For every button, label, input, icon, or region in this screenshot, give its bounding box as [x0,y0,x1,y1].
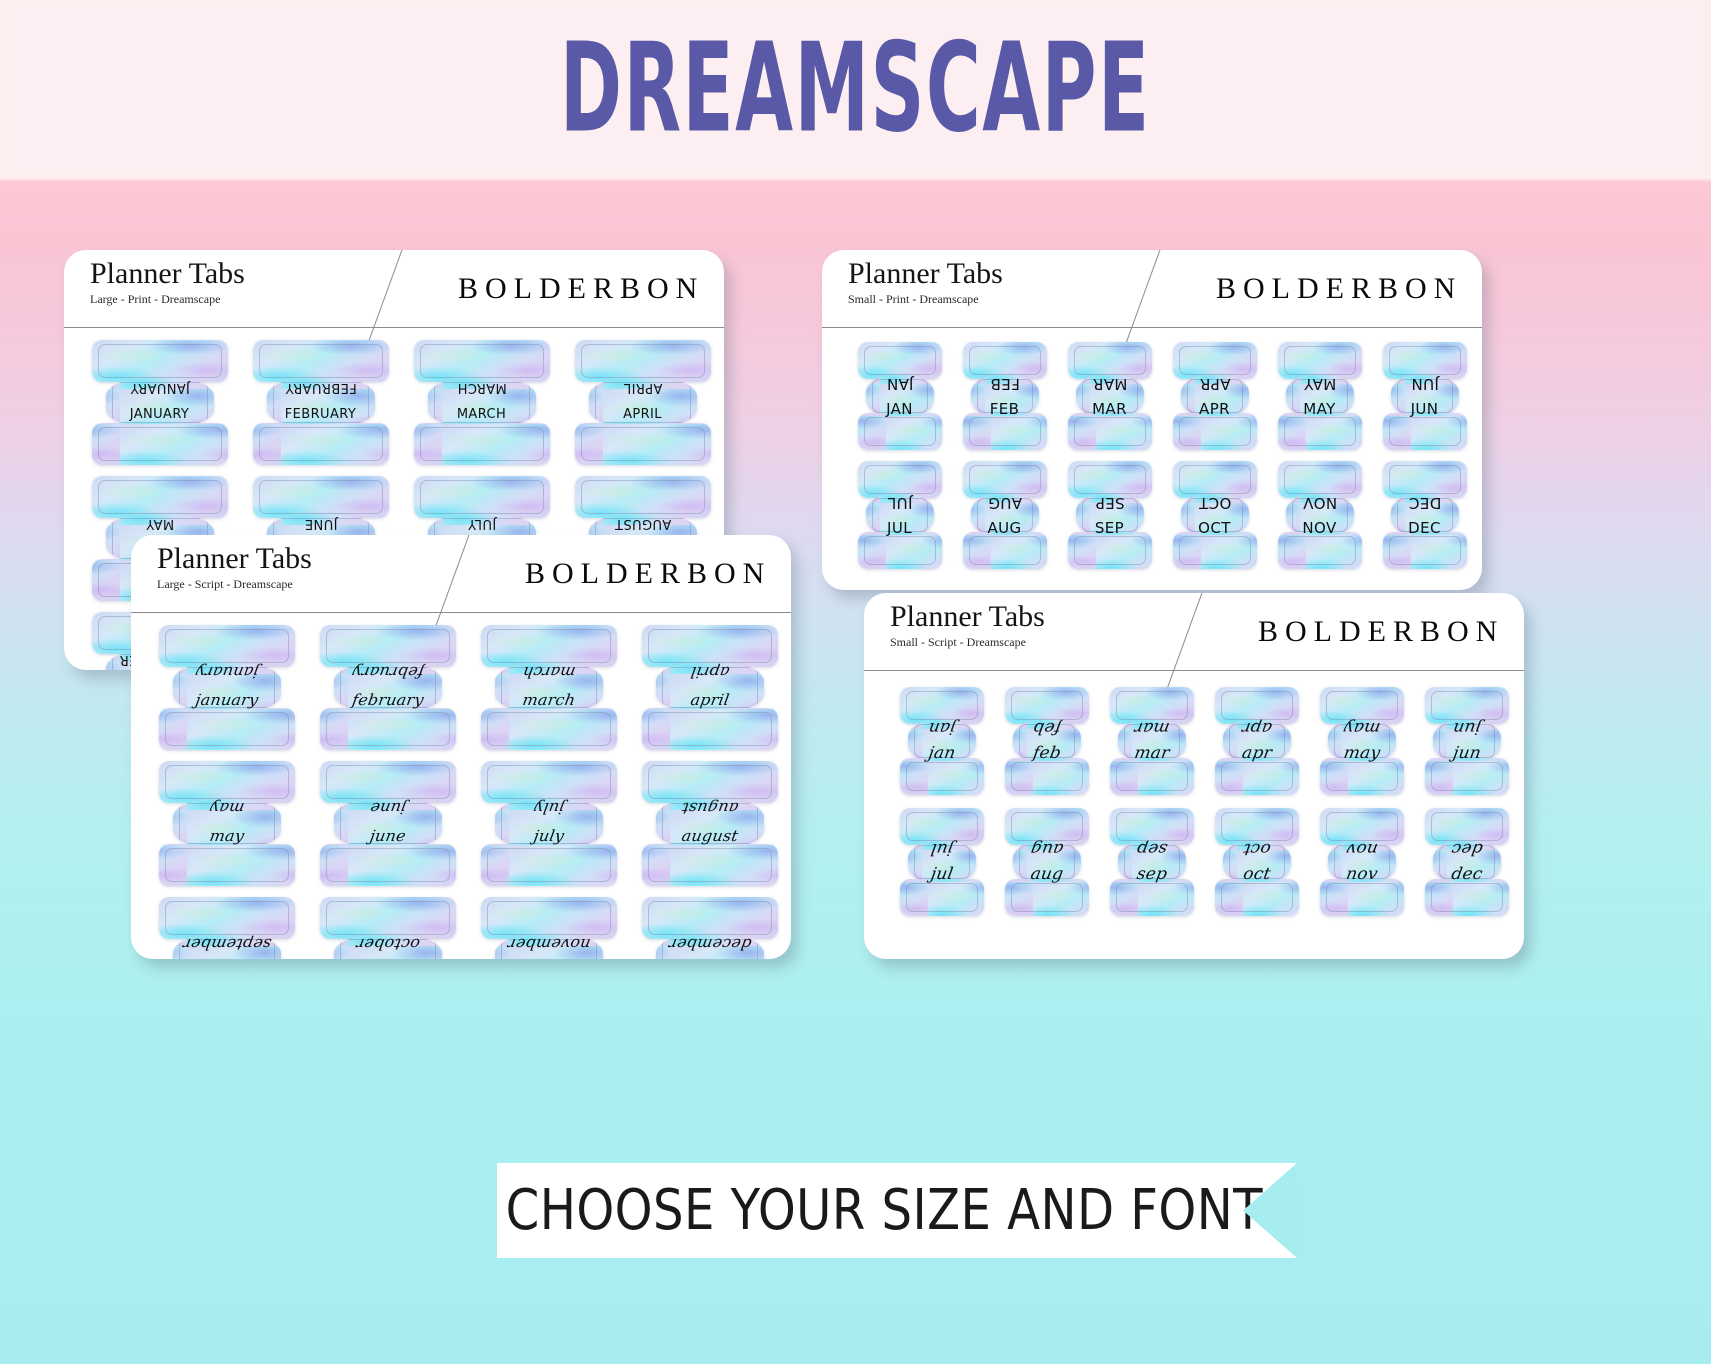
tab-shape-segment [159,897,295,939]
tab-label: FEBRUARY [251,407,391,422]
tab-label: JANUARY [90,407,230,422]
tab-cut-line [1389,536,1461,565]
tab-label-mirrored: JUNE [251,516,391,531]
sticker-sheet-small-print[interactable]: Planner Tabs Small - Print - Dreamscape … [822,250,1482,590]
tab-cut-line [1326,883,1398,912]
tab-shape-segment [642,897,778,939]
tab-shape-segment [1005,879,1089,916]
planner-tab-sticker[interactable]: julyjuly [479,761,619,886]
tab-label-mirrored: feb [1001,718,1092,737]
tab-shape-segment [963,532,1047,569]
planner-tab-sticker[interactable]: augaug [1003,808,1091,916]
sheet-header: Planner Tabs Large - Print - Dreamscape … [64,250,724,328]
planner-tab-sticker[interactable]: junejune [318,761,458,886]
tab-label: JUN [1381,400,1469,418]
sheet-subtitle: Large - Script - Dreamscape [157,577,312,592]
planner-tab-sticker[interactable]: januaryjanuary [157,625,297,750]
tab-label-mirrored: MAR [1066,375,1154,393]
tab-shape-segment [481,708,617,750]
planner-tab-sticker[interactable]: februaryfebruary [318,625,458,750]
tab-cut-line [420,344,544,378]
tab-cut-line [906,883,978,912]
tab-label-mirrored: APRIL [573,380,713,395]
tab-shape-segment [1068,461,1152,498]
tab-label: jan [896,743,987,762]
tab-cut-line [487,765,611,799]
tab-cut-line [1431,883,1503,912]
planner-tab-sticker[interactable]: decemberdecember [640,897,780,959]
tab-shape-segment [963,461,1047,498]
sheet-title: Planner Tabs [890,601,1045,633]
tab-shape-segment [414,423,550,465]
tab-label-mirrored: MARCH [412,380,552,395]
tab-label-mirrored: may [155,799,298,817]
sticker-sheet-large-script[interactable]: Planner Tabs Large - Script - Dreamscape… [131,535,791,959]
tab-shape-segment [159,625,295,667]
tab-shape-segment [1425,758,1509,795]
tab-label-mirrored: FEB [961,375,1049,393]
tab-label: FEB [961,400,1049,418]
tab-cut-line [1221,812,1293,841]
tab-shape-segment [1110,758,1194,795]
tab-shape-segment [1173,413,1257,450]
tab-cut-line [1431,691,1503,720]
tab-label-mirrored: AUG [961,494,1049,512]
tab-shape-segment [159,844,295,886]
sheet-title: Planner Tabs [848,258,1003,290]
tab-cut-line [1284,346,1356,375]
tab-label-mirrored: january [155,663,298,681]
tab-label-mirrored: july [477,799,620,817]
planner-tab-sticker[interactable]: febfeb [1003,687,1091,795]
tab-cut-line [1389,346,1461,375]
tab-shape-segment [1215,758,1299,795]
footer-ribbon: CHOOSE YOUR SIZE AND FONT [497,1163,1297,1258]
tab-shape-segment [481,761,617,803]
tab-shape-segment [900,758,984,795]
tab-cut-line [1074,417,1146,446]
tab-label-mirrored: JAN [856,375,944,393]
planner-tab-sticker[interactable]: septemberseptember [157,897,297,959]
tab-grid-small-print: JANJANFEBFEBMARMARAPRAPRMAYMAYJUNJUNJULJ… [822,328,1482,569]
tab-shape-segment [858,413,942,450]
tab-label: january [155,690,298,708]
tab-label: SEP [1066,519,1154,537]
tab-shape-segment [320,897,456,939]
tab-shape-segment [1383,532,1467,569]
tab-label-mirrored: mar [1106,718,1197,737]
tab-shape-segment [1068,532,1152,569]
sheet-header: Planner Tabs Large - Script - Dreamscape… [131,535,791,613]
tab-shape-segment [414,340,550,382]
tab-label-mirrored: jan [896,718,987,737]
tab-label: OCT [1171,519,1259,537]
tab-shape-segment [900,879,984,916]
planner-tab-sticker[interactable]: JANUARYJANUARY [90,340,230,465]
tab-shape-segment [1278,342,1362,379]
tab-shape-segment [1278,461,1362,498]
tab-label-mirrored: JANUARY [90,380,230,395]
tab-shape-segment [1005,758,1089,795]
tab-label-mirrored: dec [1421,839,1512,858]
tab-cut-line [326,765,450,799]
tab-label-mirrored: SEP [1066,494,1154,512]
tab-label-mirrored: september [155,935,298,953]
tab-cut-line [648,712,772,746]
tab-label-mirrored: apr [1211,718,1302,737]
tab-shape-segment [963,342,1047,379]
tab-cut-line [1074,465,1146,494]
planner-tab-sticker[interactable]: juljul [898,808,986,916]
tab-label-mirrored: february [316,663,459,681]
tab-cut-line [98,480,222,514]
planner-tab-sticker[interactable]: novnov [1318,808,1406,916]
tab-cut-line [487,901,611,935]
tab-label: MAR [1066,400,1154,418]
tab-cut-line [487,629,611,663]
tab-cut-line [165,712,289,746]
tab-shape-segment [320,761,456,803]
tab-cut-line [648,629,772,663]
tab-label-mirrored: may [1316,718,1407,737]
tab-shape-segment [575,423,711,465]
tab-cut-line [969,346,1041,375]
tab-shape-segment [92,340,228,382]
tab-label: MAY [1276,400,1364,418]
tab-shape-segment [1278,413,1362,450]
tab-label-mirrored: jun [1421,718,1512,737]
tab-shape-segment [320,625,456,667]
tab-label: february [316,690,459,708]
tab-label-mirrored: NOV [1276,494,1364,512]
tab-shape-segment [159,761,295,803]
tab-cut-line [326,901,450,935]
tab-cut-line [259,480,383,514]
tab-cut-line [326,712,450,746]
tab-cut-line [1284,536,1356,565]
tab-cut-line [581,427,705,461]
tab-shape-segment [320,844,456,886]
tab-label-mirrored: august [638,799,781,817]
tab-cut-line [1326,762,1398,791]
tab-cut-line [1011,762,1083,791]
planner-tab-sticker[interactable]: JUNJUN [1381,342,1469,450]
tab-grid-small-script: janjanfebfebmarmarapraprmaymayjunjunjulj… [864,671,1524,916]
brand-logo: BOLDERBON [458,272,704,306]
planner-tab-sticker[interactable]: octoct [1213,808,1301,916]
tab-cut-line [1284,465,1356,494]
tab-cut-line [1011,691,1083,720]
tab-label-mirrored: november [477,935,620,953]
tab-cut-line [1221,691,1293,720]
tab-shape-segment [1173,461,1257,498]
tab-cut-line [98,344,222,378]
tab-cut-line [906,762,978,791]
tab-label: jul [896,864,987,883]
tab-shape-segment [642,625,778,667]
tab-cut-line [648,848,772,882]
tab-cut-line [165,901,289,935]
planner-tab-sticker[interactable]: APRILAPRIL [573,340,713,465]
planner-tab-sticker[interactable]: octoberoctober [318,897,458,959]
tab-label-mirrored: AUGUST [573,516,713,531]
tab-shape-segment [858,461,942,498]
tab-shape-segment [481,897,617,939]
brand-logo: BOLDERBON [1216,272,1462,306]
tab-shape-segment [1110,879,1194,916]
tab-label: JAN [856,400,944,418]
tab-shape-segment [1425,879,1509,916]
tab-cut-line [1326,812,1398,841]
brand-logo: BOLDERBON [1258,615,1504,649]
tab-shape-segment [481,625,617,667]
tab-label: march [477,690,620,708]
tab-shape-segment [1173,342,1257,379]
tab-cut-line [1116,762,1188,791]
tab-cut-line [1011,812,1083,841]
tab-cut-line [648,765,772,799]
tab-label: feb [1001,743,1092,762]
tab-cut-line [165,765,289,799]
tab-shape-segment [642,844,778,886]
tab-cut-line [1074,536,1146,565]
tab-cut-line [864,417,936,446]
footer-text: CHOOSE YOUR SIZE AND FONT [505,1178,1262,1243]
tab-shape-segment [1215,879,1299,916]
tab-cut-line [969,465,1041,494]
tab-cut-line [259,344,383,378]
tab-cut-line [420,427,544,461]
tab-shape-segment [1320,879,1404,916]
tab-label: MARCH [412,407,552,422]
tab-cut-line [581,480,705,514]
tab-cut-line [1326,691,1398,720]
sheet-header: Planner Tabs Small - Script - Dreamscape… [864,593,1524,671]
tab-label-mirrored: october [316,935,459,953]
tab-cut-line [1179,465,1251,494]
tab-label-mirrored: jul [896,839,987,858]
planner-tab-sticker[interactable]: OCTOCT [1171,461,1259,569]
tab-shape-segment [1173,532,1257,569]
tab-shape-segment [1320,758,1404,795]
tab-cut-line [648,901,772,935]
planner-tab-sticker[interactable]: MAYMAY [1276,342,1364,450]
tab-shape-segment [575,476,711,518]
tab-label: mar [1106,743,1197,762]
tab-label-mirrored: JUL [856,494,944,512]
tab-cut-line [326,629,450,663]
tab-cut-line [1389,417,1461,446]
product-listing-image: DREAMSCAPE Planner Tabs Large - Print - … [0,0,1711,1364]
tab-shape-segment [253,476,389,518]
sheet-subtitle: Small - Script - Dreamscape [890,635,1045,650]
tab-label: apr [1211,743,1302,762]
planner-tab-sticker[interactable]: maymay [1318,687,1406,795]
planner-tab-sticker[interactable]: marmar [1108,687,1196,795]
tab-cut-line [1431,762,1503,791]
tab-label: may [1316,743,1407,762]
tab-label-mirrored: march [477,663,620,681]
tab-shape-segment [92,476,228,518]
tab-label-mirrored: aug [1001,839,1092,858]
tab-cut-line [98,427,222,461]
page-title: DREAMSCAPE [560,27,1151,150]
tab-cut-line [487,712,611,746]
planner-tab-sticker[interactable]: JULJUL [856,461,944,569]
planner-tab-sticker[interactable]: NOVNOV [1276,461,1364,569]
tab-shape-segment [1068,342,1152,379]
tab-shape-segment [159,708,295,750]
tab-shape-segment [963,413,1047,450]
tab-shape-segment [642,708,778,750]
planner-tab-sticker[interactable]: APRAPR [1171,342,1259,450]
tab-label: AUG [961,519,1049,537]
planner-tab-sticker[interactable]: AUGAUG [961,461,1049,569]
tab-label: may [155,826,298,844]
planner-tab-sticker[interactable]: SEPSEP [1066,461,1154,569]
tab-shape-segment [858,532,942,569]
planner-tab-sticker[interactable]: novembernovember [479,897,619,959]
tab-cut-line [969,417,1041,446]
tab-cut-line [581,344,705,378]
tab-label-mirrored: JUN [1381,375,1469,393]
tab-label-mirrored: OCT [1171,494,1259,512]
tab-shape-segment [414,476,550,518]
tab-cut-line [906,691,978,720]
planner-tab-sticker[interactable]: sepsep [1108,808,1196,916]
tab-cut-line [1116,691,1188,720]
tab-label-mirrored: nov [1316,839,1407,858]
tab-label: nov [1316,864,1407,883]
planner-tab-sticker[interactable]: aprilapril [640,625,780,750]
tab-label-mirrored: APR [1171,375,1259,393]
tab-label: aug [1001,864,1092,883]
tab-cut-line [969,536,1041,565]
tab-cut-line [326,848,450,882]
tab-label: dec [1421,864,1512,883]
tab-shape-segment [858,342,942,379]
planner-tab-sticker[interactable]: MARMAR [1066,342,1154,450]
tab-cut-line [864,346,936,375]
tab-cut-line [1389,465,1461,494]
tab-shape-segment [481,844,617,886]
planner-tab-sticker[interactable]: aprapr [1213,687,1301,795]
tab-label: APR [1171,400,1259,418]
planner-tab-sticker[interactable]: MARCHMARCH [412,340,552,465]
planner-tab-sticker[interactable]: FEBRUARYFEBRUARY [251,340,391,465]
tab-cut-line [1284,417,1356,446]
tab-cut-line [906,812,978,841]
tab-shape-segment [1068,413,1152,450]
planner-tab-sticker[interactable]: DECDEC [1381,461,1469,569]
tab-cut-line [1179,346,1251,375]
tab-label: july [477,826,620,844]
tab-cut-line [420,480,544,514]
tab-label-mirrored: oct [1211,839,1302,858]
tab-shape-segment [1278,532,1362,569]
tab-cut-line [1221,762,1293,791]
tab-label: NOV [1276,519,1364,537]
tab-shape-segment [92,423,228,465]
tab-cut-line [864,465,936,494]
tab-cut-line [1116,812,1188,841]
tab-cut-line [1116,883,1188,912]
tab-cut-line [1074,346,1146,375]
tab-shape-segment [253,423,389,465]
tab-grid-large-script: januaryjanuaryfebruaryfebruarymarchmarch… [131,613,791,959]
planner-tab-sticker[interactable]: JANJAN [856,342,944,450]
tab-label: june [316,826,459,844]
sheet-header: Planner Tabs Small - Print - Dreamscape … [822,250,1482,328]
tab-label: august [638,826,781,844]
tab-label-mirrored: DEC [1381,494,1469,512]
tab-cut-line [1011,883,1083,912]
tab-cut-line [165,848,289,882]
sheet-subtitle: Small - Print - Dreamscape [848,292,1003,307]
tab-shape-segment [642,761,778,803]
planner-tab-sticker[interactable]: marchmarch [479,625,619,750]
brand-logo: BOLDERBON [525,557,771,591]
header-banner: DREAMSCAPE [8,4,1703,172]
tab-cut-line [487,848,611,882]
tab-label-mirrored: JULY [412,516,552,531]
tab-cut-line [1221,883,1293,912]
tab-label-mirrored: june [316,799,459,817]
tab-cut-line [165,629,289,663]
planner-tab-sticker[interactable]: decdec [1423,808,1511,916]
tab-cut-line [1179,536,1251,565]
tab-shape-segment [1383,342,1467,379]
planner-tab-sticker[interactable]: augustaugust [640,761,780,886]
tab-label-mirrored: MAY [90,516,230,531]
tab-label: oct [1211,864,1302,883]
tab-cut-line [864,536,936,565]
tab-label: april [638,690,781,708]
tab-label: DEC [1381,519,1469,537]
sheet-title: Planner Tabs [90,258,245,290]
tab-shape-segment [1383,461,1467,498]
tab-label-mirrored: december [638,935,781,953]
tab-cut-line [1179,417,1251,446]
tab-label: sep [1106,864,1197,883]
tab-label-mirrored: MAY [1276,375,1364,393]
sheet-title: Planner Tabs [157,543,312,575]
planner-tab-sticker[interactable]: FEBFEB [961,342,1049,450]
tab-label: JUL [856,519,944,537]
tab-shape-segment [575,340,711,382]
tab-cut-line [259,427,383,461]
tab-label-mirrored: sep [1106,839,1197,858]
planner-tab-sticker[interactable]: junjun [1423,687,1511,795]
tab-shape-segment [1383,413,1467,450]
tab-shape-segment [253,340,389,382]
tab-label-mirrored: april [638,663,781,681]
tab-label: jun [1421,743,1512,762]
sticker-sheet-small-script[interactable]: Planner Tabs Small - Script - Dreamscape… [864,593,1524,959]
sheet-subtitle: Large - Print - Dreamscape [90,292,245,307]
planner-tab-sticker[interactable]: janjan [898,687,986,795]
tab-cut-line [1431,812,1503,841]
planner-tab-sticker[interactable]: maymay [157,761,297,886]
tab-label: APRIL [573,407,713,422]
tab-shape-segment [320,708,456,750]
tab-label-mirrored: FEBRUARY [251,380,391,395]
